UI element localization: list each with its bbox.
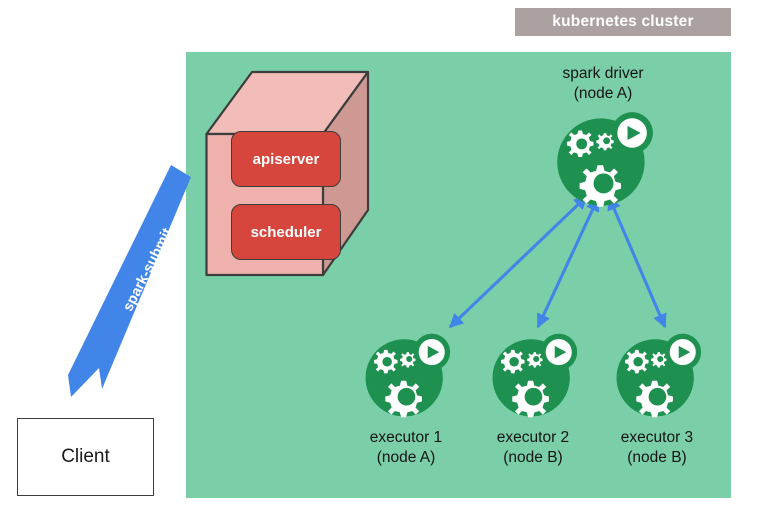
diagram-canvas: kubernetes cluster apiserver scheduler s… — [0, 0, 761, 516]
executor-3-caption: executor 3 (node B) — [582, 428, 732, 468]
executor-1-node[interactable] — [360, 330, 452, 422]
kubernetes-cluster-label: kubernetes cluster — [515, 8, 731, 36]
control-plane-apiserver-chip[interactable]: apiserver — [231, 131, 341, 187]
spark-submit-arrow — [55, 165, 215, 405]
client-box[interactable]: Client — [17, 418, 154, 496]
executor-2-node[interactable] — [487, 330, 579, 422]
client-label: Client — [61, 446, 110, 468]
play-icon — [419, 339, 445, 365]
play-icon — [670, 339, 696, 365]
spark-driver-node[interactable] — [551, 108, 655, 212]
play-icon — [546, 339, 572, 365]
play-icon — [617, 118, 647, 148]
executor-3-node[interactable] — [611, 330, 703, 422]
control-plane-scheduler-chip[interactable]: scheduler — [231, 204, 341, 260]
spark-driver-caption: spark driver (node A) — [528, 64, 678, 104]
